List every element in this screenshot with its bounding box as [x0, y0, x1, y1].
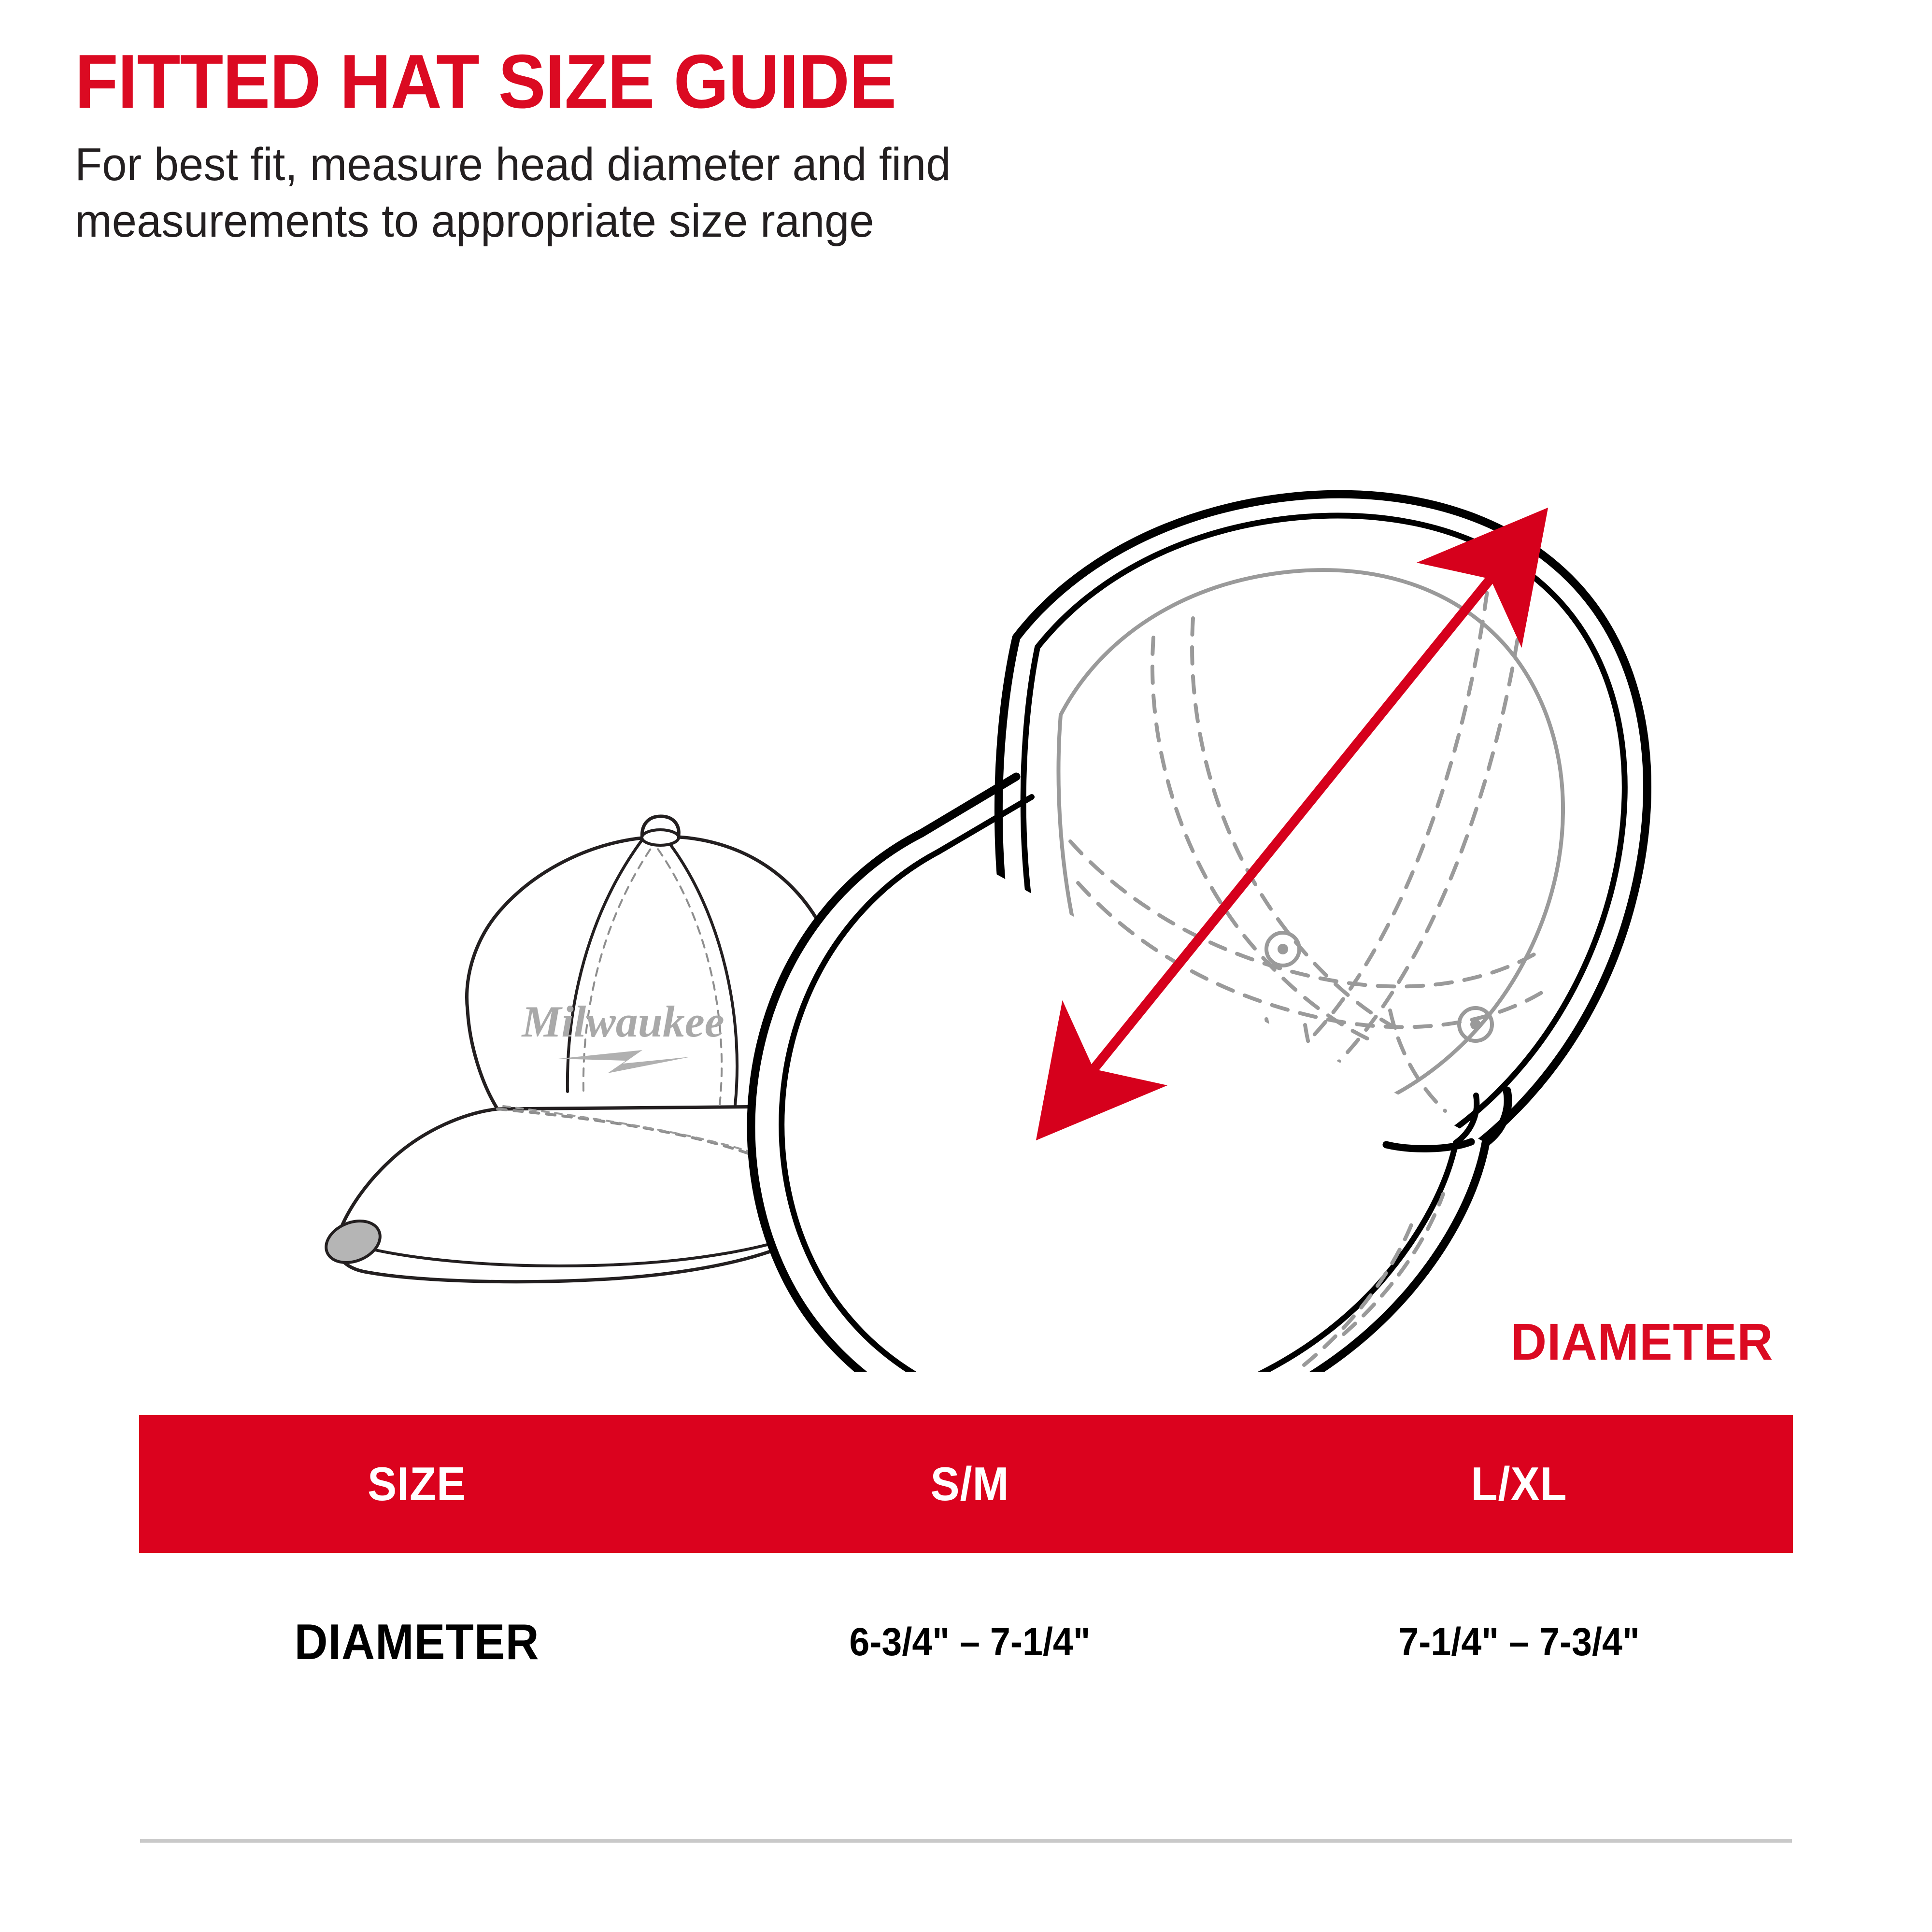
header: FITTED HAT SIZE GUIDE For best fit, meas…	[75, 43, 1524, 249]
bottom-divider	[140, 1839, 1792, 1843]
cell-diameter-lxl: 7-1/4" – 7-3/4"	[1267, 1619, 1771, 1665]
subtitle-line-2: measurements to appropriate size range	[75, 195, 874, 247]
page-title: FITTED HAT SIZE GUIDE	[75, 43, 1422, 120]
hat-illustration-area: Milwaukee	[0, 309, 1932, 1372]
column-header-lxl: L/XL	[1267, 1457, 1771, 1511]
row-label-diameter: DIAMETER	[161, 1614, 672, 1671]
size-guide-page: FITTED HAT SIZE GUIDE For best fit, meas…	[0, 0, 1932, 1932]
diameter-callout-label: DIAMETER	[1511, 1311, 1773, 1372]
table-row: DIAMETER 6-3/4" – 7-1/4" 7-1/4" – 7-3/4"	[139, 1553, 1793, 1732]
hat-illustrations-svg: Milwaukee	[0, 309, 1932, 1372]
page-subtitle: For best fit, measure head diameter and …	[75, 136, 1262, 249]
subtitle-line-1: For best fit, measure head diameter and …	[75, 139, 951, 190]
cell-diameter-sm: 6-3/4" – 7-1/4"	[717, 1619, 1223, 1665]
column-header-size: SIZE	[161, 1457, 672, 1511]
milwaukee-logo-text: Milwaukee	[521, 997, 724, 1046]
size-table-header-row: SIZE S/M L/XL	[139, 1415, 1793, 1553]
size-table: SIZE S/M L/XL DIAMETER 6-3/4" – 7-1/4" 7…	[139, 1415, 1793, 1732]
column-header-sm: S/M	[717, 1457, 1223, 1511]
